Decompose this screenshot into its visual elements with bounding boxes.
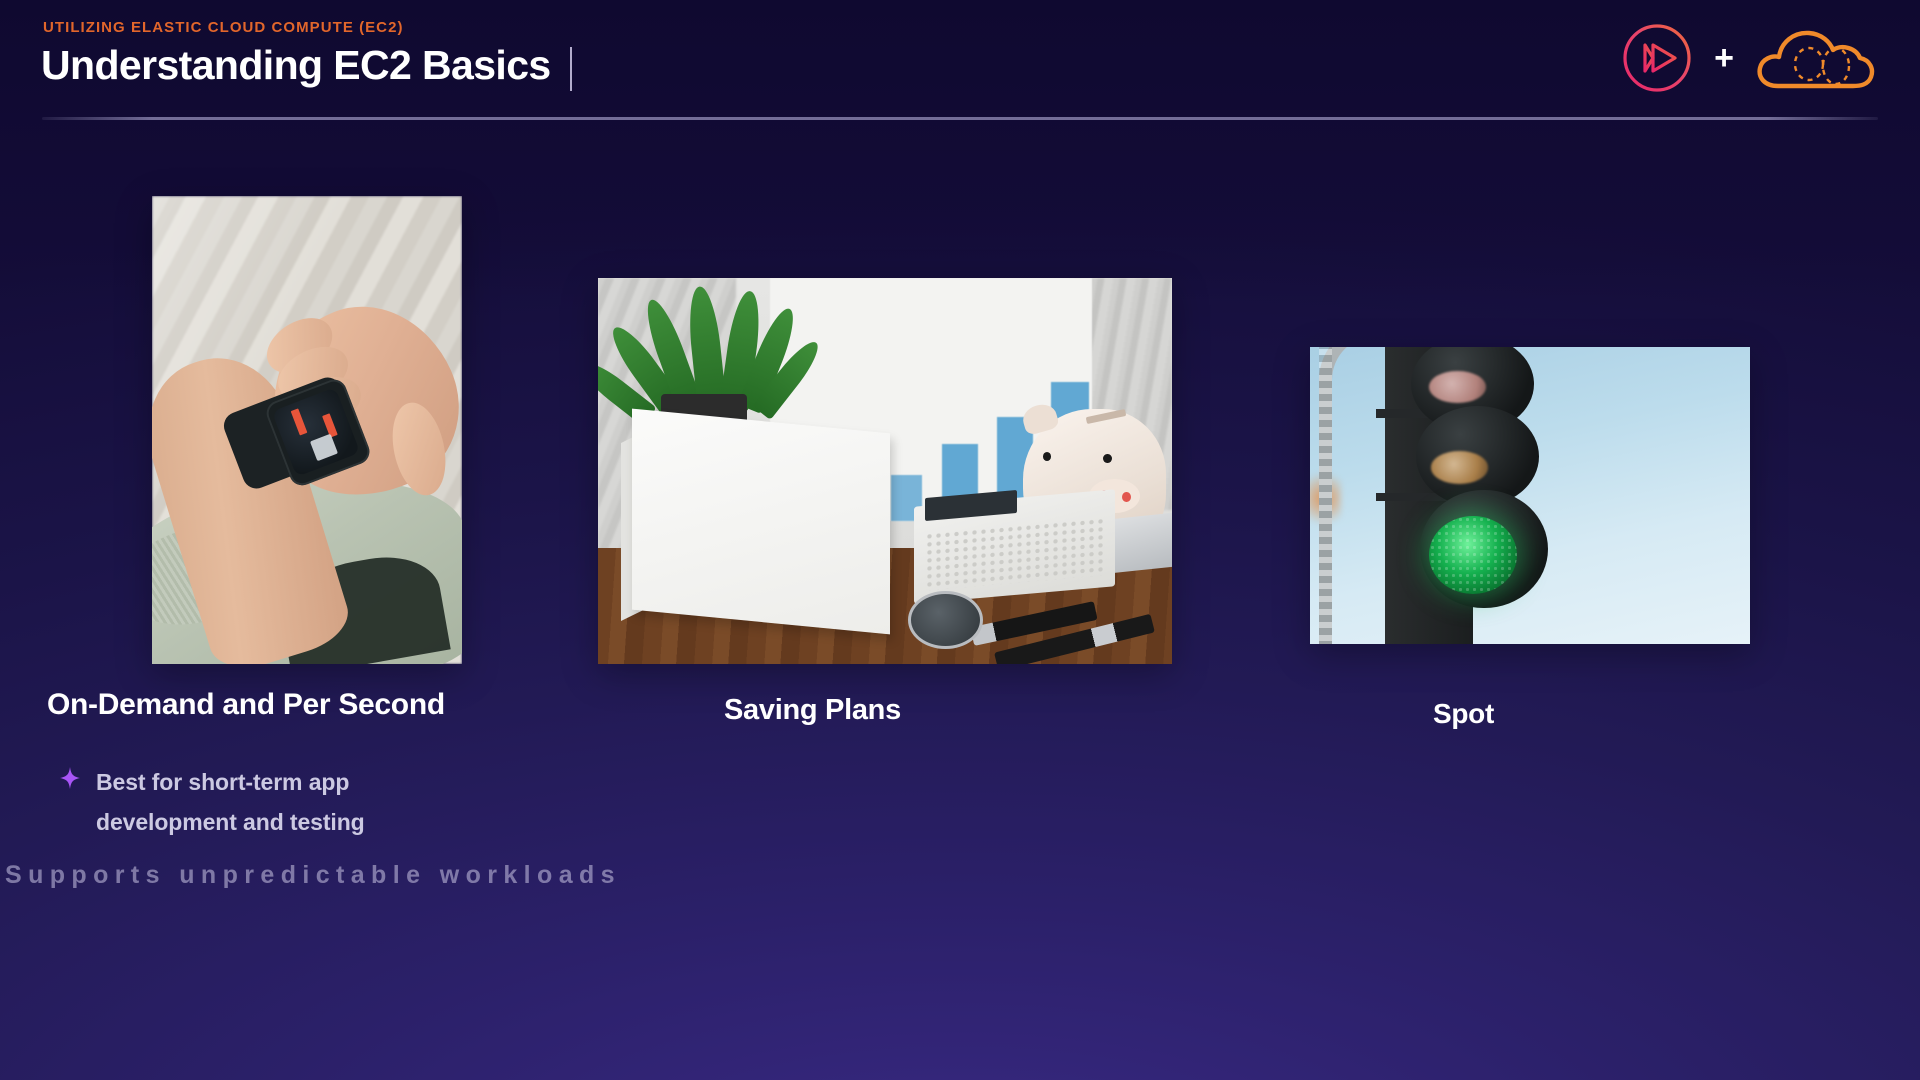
image-spot <box>1310 347 1750 644</box>
appearing-text-line: Supports unpredictable workloads <box>5 861 621 890</box>
caption-spot: Spot <box>1433 698 1494 730</box>
savings-desk-photo-scene <box>598 278 1172 664</box>
caption-on-demand: On-Demand and Per Second <box>47 688 445 722</box>
caption-saving-plans: Saving Plans <box>724 694 901 727</box>
image-on-demand <box>152 196 462 664</box>
image-saving-plans <box>598 278 1172 664</box>
play-triangle-logo-icon <box>1620 21 1694 95</box>
title-text-caret <box>570 47 572 91</box>
cloud-logo-icon <box>1754 22 1876 94</box>
logo-plus-symbol: + <box>1714 41 1734 75</box>
slide-header: UTILIZING ELASTIC CLOUD COMPUTE (EC2) Un… <box>0 0 1920 118</box>
logo-lockup: + <box>1620 14 1876 102</box>
bullet-text: Best for short-term app development and … <box>96 762 480 842</box>
eyebrow-label: UTILIZING ELASTIC CLOUD COMPUTE (EC2) <box>43 19 404 36</box>
smartwatch-photo-scene <box>152 196 462 664</box>
header-divider <box>42 117 1878 120</box>
slide-canvas: UTILIZING ELASTIC CLOUD COMPUTE (EC2) Un… <box>0 0 1920 1080</box>
traffic-light-photo-scene <box>1310 347 1750 644</box>
page-title: Understanding EC2 Basics <box>41 42 551 89</box>
bullet-list-item: Best for short-term app development and … <box>60 762 480 842</box>
sparkle-icon <box>60 767 80 789</box>
